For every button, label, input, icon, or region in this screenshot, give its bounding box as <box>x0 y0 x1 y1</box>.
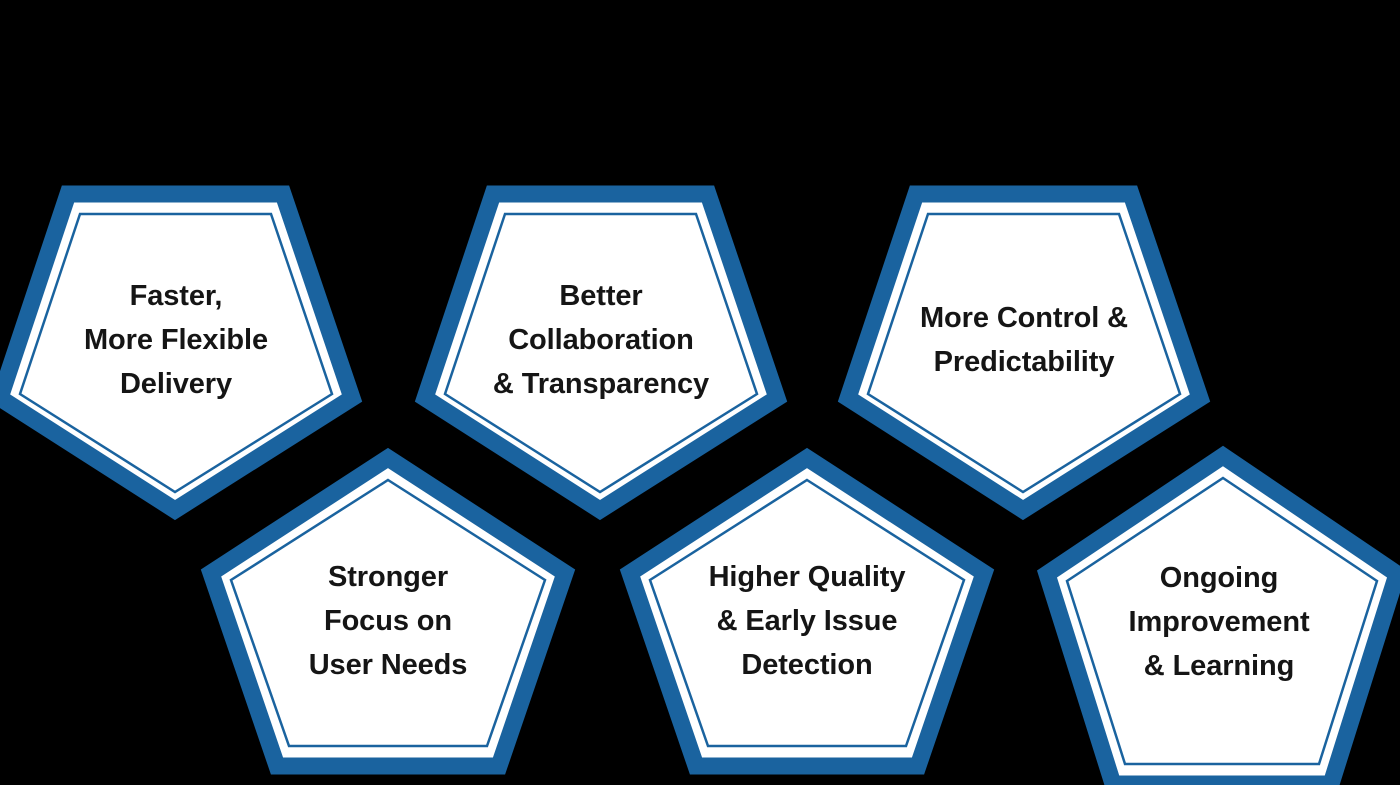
pentagon-node-higher-quality-early-issue-detection[interactable]: Higher Quality & Early Issue Detection <box>622 450 992 775</box>
pentagon-node-stronger-focus-on-user-needs[interactable]: Stronger Focus on User Needs <box>203 450 573 775</box>
diagram-canvas: Faster, More Flexible Delivery Better Co… <box>0 0 1400 785</box>
pentagon-node-ongoing-improvement-learning[interactable]: Ongoing Improvement & Learning <box>1033 448 1400 785</box>
